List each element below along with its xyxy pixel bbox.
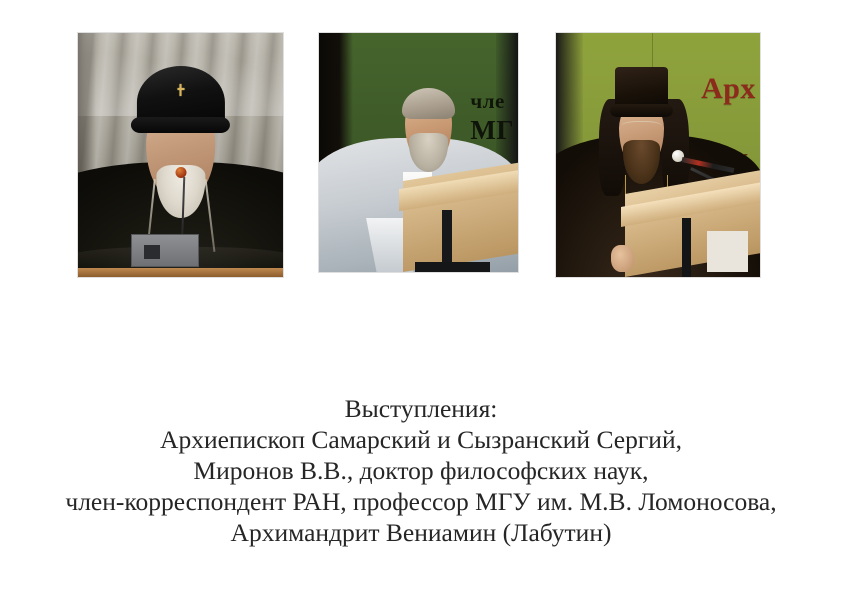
caption-line-speaker-3: Архимандрит Вениамин (Лабутин) [0,517,842,548]
podium-edge [78,268,283,277]
podium-name-plate [131,234,199,268]
archimandrite-hand [611,245,633,272]
caption-line-speaker-1: Архиепископ Самарский и Сызранский Серги… [0,424,842,455]
caption-block: Выступления: Архиепископ Самарский и Сыз… [0,393,842,548]
slide-canvas: чле МГ [0,0,842,595]
klobuk-hat [615,67,668,111]
banner-text-block: чле МГ [470,90,514,144]
caption-line-heading: Выступления: [0,393,842,424]
caption-line-speaker-2-cont: член-корреспондент РАН, профессор МГУ им… [0,486,842,517]
photo-2-scene: чле МГ [319,33,518,272]
caption-line-speaker-2: Миронов В.В., доктор философских наук, [0,455,842,486]
podium-papers [707,231,748,272]
hat-cross-icon [177,84,184,96]
photo-row: чле МГ [0,0,842,300]
banner-line-2: МГ [470,116,514,144]
banner-line-1: чле [470,89,504,113]
photo-1-scene [78,33,283,277]
banner-line-1: Арх [701,72,756,106]
photo-3-scene: Арх ру и пат [556,33,760,277]
photo-archbishop-sergiy[interactable] [78,33,283,277]
photo-professor-mironov[interactable]: чле МГ [319,33,518,272]
podium-stand [682,218,690,277]
photo-archimandrite-veniamin[interactable]: Арх ру и пат [556,33,760,277]
podium-base [415,262,491,272]
eyeglasses-icon [621,121,662,134]
